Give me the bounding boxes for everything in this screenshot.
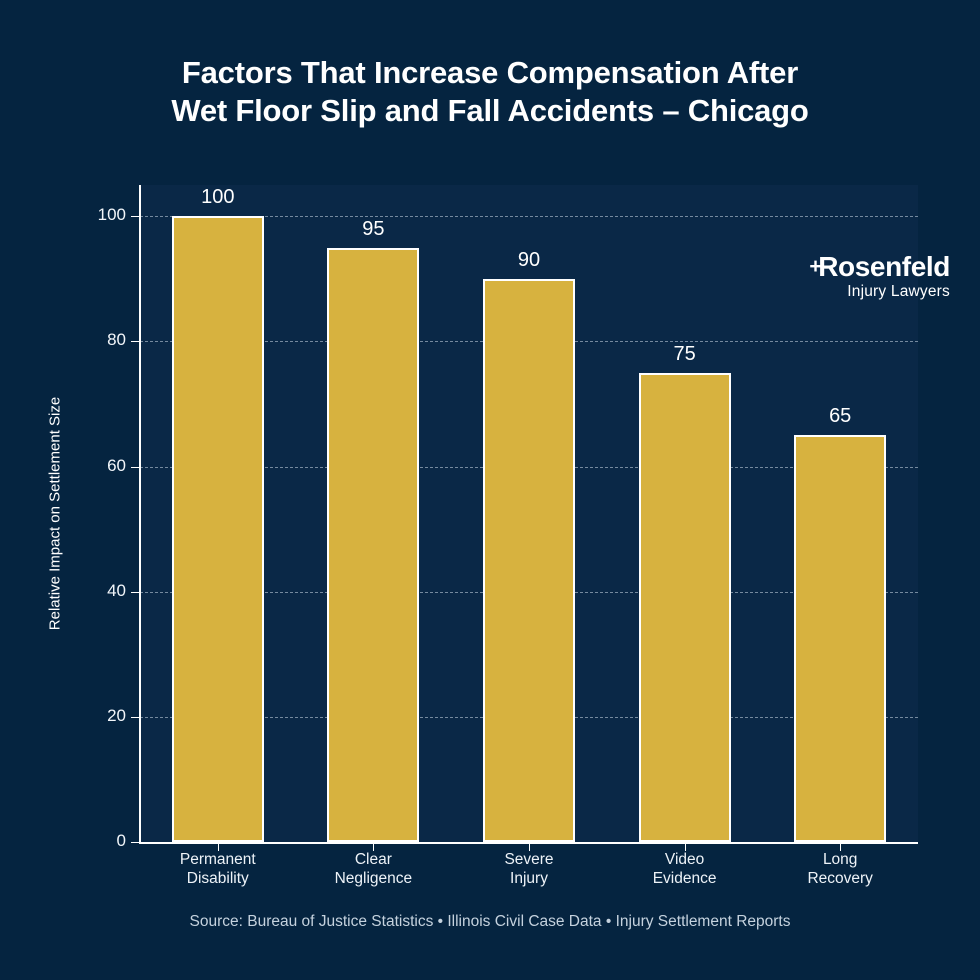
x-axis-tick-label-line: Video: [605, 850, 765, 869]
logo-tagline: Injury Lawyers: [770, 282, 950, 302]
source-note: Source: Bureau of Justice Statistics • I…: [0, 913, 980, 931]
y-axis-line: [139, 185, 141, 843]
x-axis-tick-label: SevereInjury: [449, 850, 609, 888]
bar: [483, 279, 575, 842]
y-axis-tick-label: 0: [0, 831, 126, 851]
x-axis-tick-label: PermanentDisability: [138, 850, 298, 888]
bar: [327, 248, 419, 842]
bar: [172, 216, 264, 842]
x-axis-tick-label-line: Severe: [449, 850, 609, 869]
bar-value-label: 100: [158, 186, 278, 209]
x-axis-tick-label-line: Evidence: [605, 869, 765, 888]
bar-value-label: 95: [313, 218, 433, 241]
chart-title-line-1: Factors That Increase Compensation After: [0, 54, 980, 92]
bar-value-label: 65: [780, 405, 900, 428]
bar: [794, 435, 886, 842]
x-axis-tick-label: ClearNegligence: [293, 850, 453, 888]
bar-chart-figure: Factors That Increase Compensation After…: [0, 0, 980, 980]
x-axis-tick-label: VideoEvidence: [605, 850, 765, 888]
bar-value-label: 90: [469, 249, 589, 272]
x-axis-tick-label-line: Permanent: [138, 850, 298, 869]
x-axis-tick-label-line: Negligence: [293, 869, 453, 888]
chart-title: Factors That Increase Compensation After…: [0, 54, 980, 130]
rosenfeld-logo: +Rosenfeld Injury Lawyers: [770, 252, 950, 302]
logo-wordmark: +Rosenfeld: [770, 252, 950, 282]
chart-title-line-2: Wet Floor Slip and Fall Accidents – Chic…: [0, 92, 980, 130]
x-axis-tick-label-line: Long: [760, 850, 920, 869]
x-axis-tick-label-line: Injury: [449, 869, 609, 888]
x-axis-tick-label-line: Clear: [293, 850, 453, 869]
logo-name: Rosenfeld: [818, 251, 950, 282]
bar-value-label: 75: [625, 343, 745, 366]
x-axis-tick-label-line: Disability: [138, 869, 298, 888]
bar: [639, 373, 731, 842]
x-axis-tick-label-line: Recovery: [760, 869, 920, 888]
x-axis-tick-label: LongRecovery: [760, 850, 920, 888]
y-axis-title: Relative Impact on Settlement Size: [47, 204, 64, 824]
